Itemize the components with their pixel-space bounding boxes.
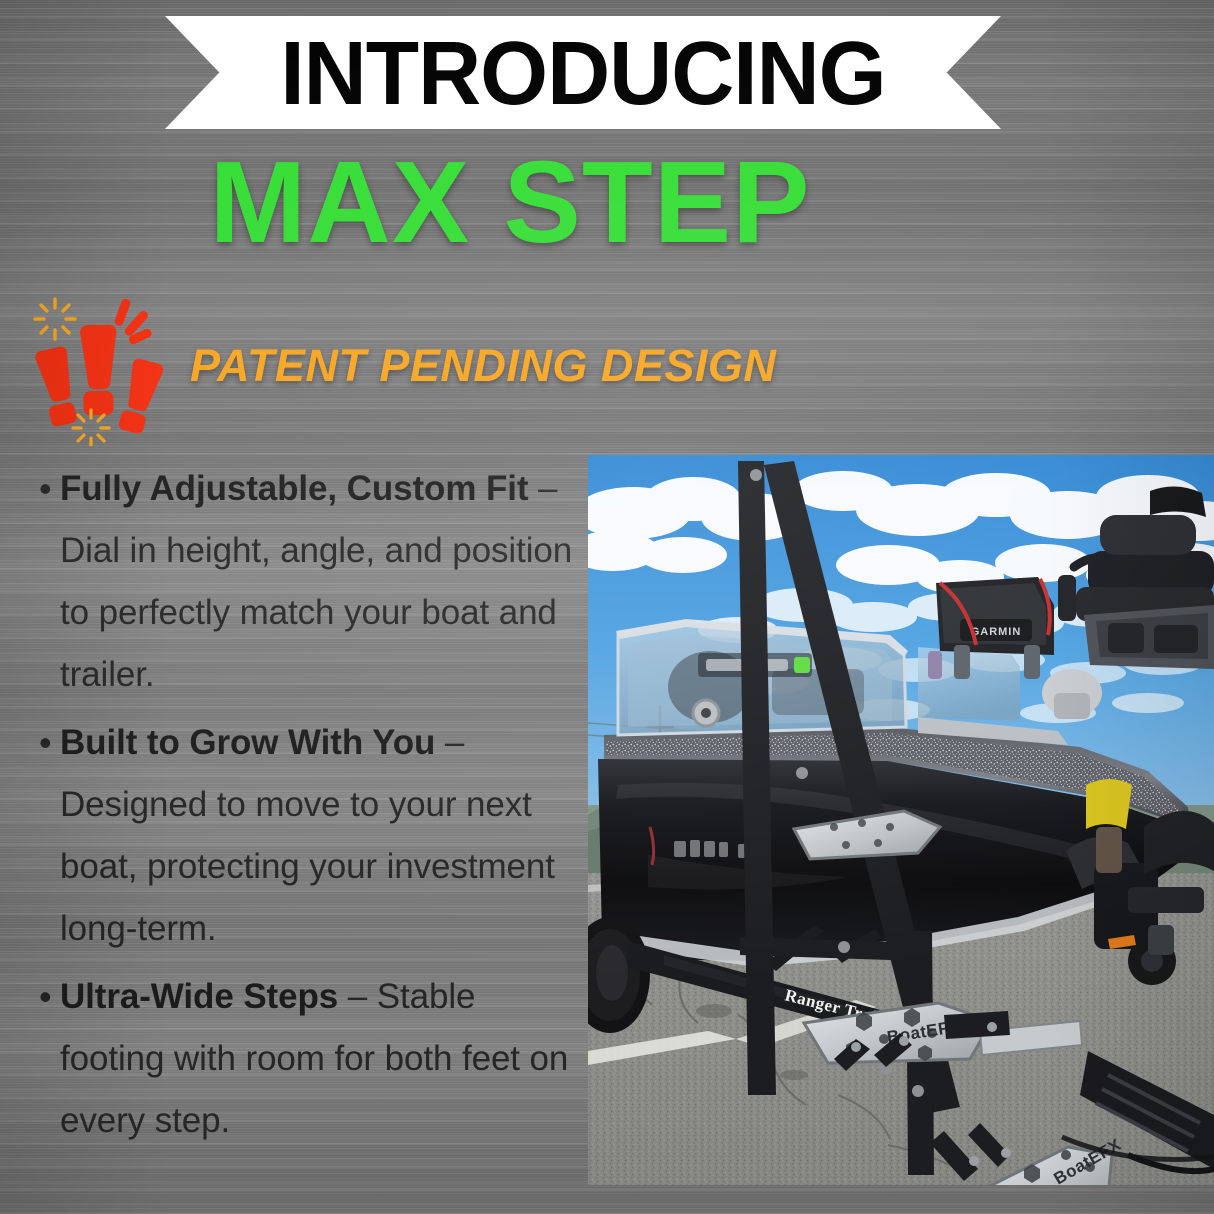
feature-bullet-list: • Fully Adjustable, Custom Fit – Dial in… xyxy=(30,458,578,1158)
list-item: • Fully Adjustable, Custom Fit – Dial in… xyxy=(30,458,578,706)
bullet-heading: Fully Adjustable, Custom Fit xyxy=(60,469,528,508)
introducing-ribbon: INTRODUCING xyxy=(165,16,1001,129)
bullet-marker-icon: • xyxy=(30,458,60,520)
bullet-text: Built to Grow With You – Designed to mov… xyxy=(60,712,578,960)
svg-text:GARMIN: GARMIN xyxy=(971,626,1022,638)
product-photo: GARMIN xyxy=(588,455,1214,1185)
bullet-heading: Ultra-Wide Steps xyxy=(60,977,338,1016)
bullet-heading: Built to Grow With You xyxy=(60,723,435,762)
list-item: • Built to Grow With You – Designed to m… xyxy=(30,712,578,960)
poster-canvas: INTRODUCING MAX STEP xyxy=(0,0,1214,1214)
introducing-label: INTRODUCING xyxy=(280,26,885,119)
bullet-text: Ultra-Wide Steps – Stable footing with r… xyxy=(60,966,578,1152)
bullet-marker-icon: • xyxy=(30,966,60,1028)
bullet-text: Fully Adjustable, Custom Fit – Dial in h… xyxy=(60,458,578,706)
patent-pending-label: PATENT PENDING DESIGN xyxy=(190,341,776,391)
product-headline: MAX STEP xyxy=(0,144,1020,260)
list-item: • Ultra-Wide Steps – Stable footing with… xyxy=(30,966,578,1152)
bullet-marker-icon: • xyxy=(30,712,60,774)
triple-exclamation-burst-icon xyxy=(26,294,188,446)
